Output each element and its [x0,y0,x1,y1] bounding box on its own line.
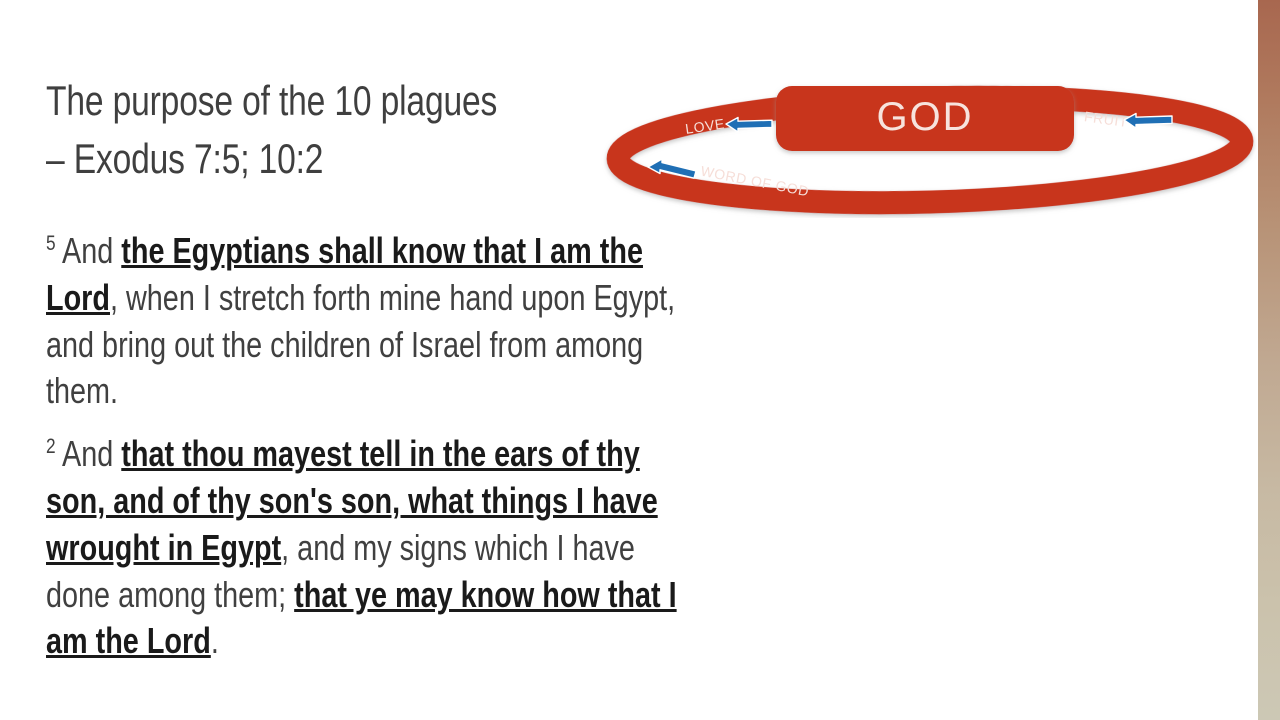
diagram-center-label: GOD [876,95,973,139]
god-cycle-diagram: GOD LOVE FRUIT WORD OF GOD [600,58,1260,218]
verse-text: And [56,230,122,271]
page-title: The purpose of the 10 plagues – Exodus 7… [46,72,646,188]
title-line-1: The purpose of the 10 plagues [46,72,526,130]
verse-number: 5 [46,230,56,255]
verse-text: , when I stretch forth mine hand upon Eg… [46,277,675,412]
verse-number: 2 [46,433,56,458]
verse-paragraph: 2 And that thou mayest tell in the ears … [46,431,706,665]
verse-text: . [211,620,219,661]
diagram-center-box: GOD [776,86,1074,151]
verse-paragraph: 5 And the Egyptians shall know that I am… [46,228,706,415]
title-line-2: – Exodus 7:5; 10:2 [46,130,526,188]
scripture-body: 5 And the Egyptians shall know that I am… [46,228,706,665]
slide-edge-gradient-bar [1258,0,1280,720]
verse-text: And [56,433,122,474]
